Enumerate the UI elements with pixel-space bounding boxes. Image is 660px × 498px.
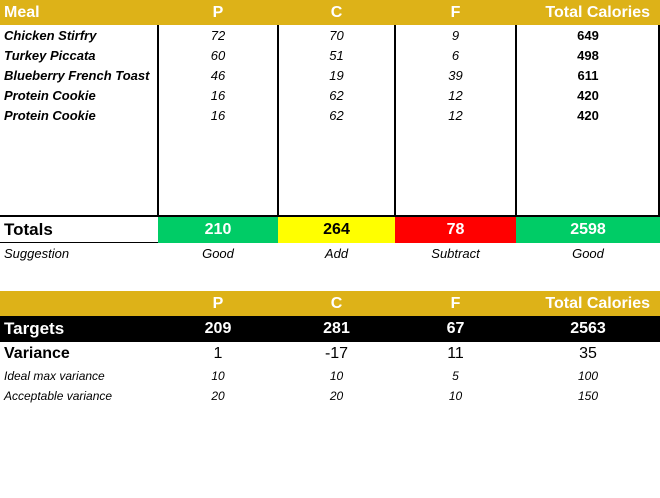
- meal-fat: 39: [395, 65, 516, 85]
- meal-carbs: 62: [278, 85, 395, 105]
- acceptable-variance-fat: 10: [395, 386, 516, 406]
- totals-carbs: 264: [278, 217, 395, 243]
- targets-col-header-f: F: [395, 291, 516, 316]
- table-gap: [0, 263, 660, 291]
- meal-name: Protein Cookie: [0, 105, 158, 125]
- meal-calories: 649: [516, 25, 660, 45]
- suggestion-carbs: Add: [278, 243, 395, 263]
- col-header-f: F: [395, 0, 516, 25]
- table-row[interactable]: Protein Cookie 16 62 12 420: [0, 105, 660, 125]
- acceptable-variance-row: Acceptable variance 20 20 10 150: [0, 386, 660, 406]
- meal-carbs: 70: [278, 25, 395, 45]
- table-row[interactable]: Turkey Piccata 60 51 6 498: [0, 45, 660, 65]
- targets-col-header-blank: [0, 291, 158, 316]
- variance-fat: 11: [395, 342, 516, 366]
- ideal-max-variance-calories: 100: [516, 366, 660, 386]
- meal-table-header-row: Meal P C F Total Calories: [0, 0, 660, 25]
- meal-fat: 6: [395, 45, 516, 65]
- meal-calories: 420: [516, 105, 660, 125]
- meal-name: Protein Cookie: [0, 85, 158, 105]
- meal-name: Chicken Stirfry: [0, 25, 158, 45]
- ideal-max-variance-row: Ideal max variance 10 10 5 100: [0, 366, 660, 386]
- table-row[interactable]: Blueberry French Toast 46 19 39 611: [0, 65, 660, 85]
- meal-fat: 12: [395, 105, 516, 125]
- totals-fat: 78: [395, 217, 516, 243]
- ideal-max-variance-fat: 5: [395, 366, 516, 386]
- meal-table-body: Chicken Stirfry 72 70 9 649 Turkey Picca…: [0, 25, 660, 217]
- targets-table: P C F Total Calories Targets 209 281 67 …: [0, 291, 660, 406]
- targets-col-header-total-calories: Total Calories: [516, 291, 660, 316]
- suggestion-label: Suggestion: [0, 243, 158, 263]
- meal-protein: 46: [158, 65, 278, 85]
- targets-col-header-c: C: [278, 291, 395, 316]
- meal-table: Meal P C F Total Calories Chicken Stirfr…: [0, 0, 660, 263]
- meal-protein: 16: [158, 85, 278, 105]
- col-header-total-calories: Total Calories: [516, 0, 660, 25]
- targets-fat: 67: [395, 316, 516, 342]
- variance-label: Variance: [0, 342, 158, 366]
- variance-row: Variance 1 -17 11 35: [0, 342, 660, 366]
- targets-table-header-row: P C F Total Calories: [0, 291, 660, 316]
- variance-carbs: -17: [278, 342, 395, 366]
- targets-carbs: 281: [278, 316, 395, 342]
- ideal-max-variance-protein: 10: [158, 366, 278, 386]
- totals-label: Totals: [0, 217, 158, 242]
- table-row[interactable]: Chicken Stirfry 72 70 9 649: [0, 25, 660, 45]
- col-header-c: C: [278, 0, 395, 25]
- meal-calories: 420: [516, 85, 660, 105]
- totals-protein: 210: [158, 217, 278, 243]
- variance-protein: 1: [158, 342, 278, 366]
- col-header-meal: Meal: [0, 0, 158, 25]
- targets-label: Targets: [0, 316, 158, 342]
- acceptable-variance-carbs: 20: [278, 386, 395, 406]
- suggestion-protein: Good: [158, 243, 278, 263]
- meal-protein: 16: [158, 105, 278, 125]
- acceptable-variance-calories: 150: [516, 386, 660, 406]
- meal-name: Blueberry French Toast: [0, 65, 158, 85]
- macro-tracker-page: 6-PACK MACROS MACRO TRACKER Meal P C F T…: [0, 0, 660, 498]
- meal-fat: 12: [395, 85, 516, 105]
- meal-protein: 72: [158, 25, 278, 45]
- targets-values-row: Targets 209 281 67 2563: [0, 316, 660, 342]
- meal-calories: 611: [516, 65, 660, 85]
- table-row[interactable]: Protein Cookie 16 62 12 420: [0, 85, 660, 105]
- meal-protein: 60: [158, 45, 278, 65]
- empty-meal-rows[interactable]: [0, 125, 660, 215]
- acceptable-variance-label: Acceptable variance: [0, 386, 158, 406]
- suggestion-calories: Good: [516, 243, 660, 263]
- acceptable-variance-protein: 20: [158, 386, 278, 406]
- targets-col-header-p: P: [158, 291, 278, 316]
- suggestion-row: Suggestion Good Add Subtract Good: [0, 243, 660, 263]
- suggestion-fat: Subtract: [395, 243, 516, 263]
- ideal-max-variance-carbs: 10: [278, 366, 395, 386]
- targets-protein: 209: [158, 316, 278, 342]
- ideal-max-variance-label: Ideal max variance: [0, 366, 158, 386]
- totals-row: Totals 210 264 78 2598: [0, 217, 660, 243]
- variance-calories: 35: [516, 342, 660, 366]
- meal-carbs: 62: [278, 105, 395, 125]
- meal-carbs: 19: [278, 65, 395, 85]
- meal-name: Turkey Piccata: [0, 45, 158, 65]
- meal-carbs: 51: [278, 45, 395, 65]
- col-header-p: P: [158, 0, 278, 25]
- totals-calories: 2598: [516, 217, 660, 243]
- meal-calories: 498: [516, 45, 660, 65]
- meal-fat: 9: [395, 25, 516, 45]
- targets-calories: 2563: [516, 316, 660, 342]
